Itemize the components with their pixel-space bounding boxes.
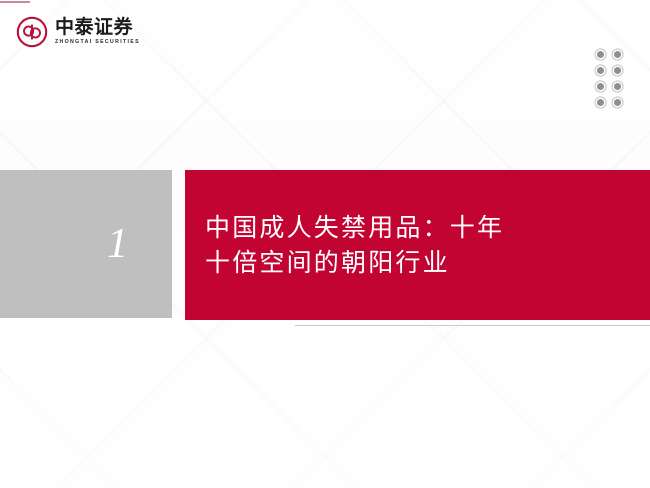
dot-grid-cell [609,78,626,94]
brand-name-cn: 中泰证券 [55,18,140,37]
brand-logo-text: 中泰证券 ZHONGTAI SECURITIES [55,18,140,45]
section-title-line-1: 中国成人失禁用品：十年 [185,210,650,246]
dot-grid-cell [592,94,609,110]
dot-icon [597,51,604,58]
dot-icon [614,67,621,74]
dot-icon [614,83,621,90]
dot-grid-cell [592,46,609,62]
brand-name-en: ZHONGTAI SECURITIES [55,40,140,45]
decorative-dot-grid [592,46,626,110]
dot-icon [597,67,604,74]
dot-grid-cell [609,46,626,62]
corner-accent-mark [0,1,30,3]
dot-icon [614,99,621,106]
dot-icon [614,51,621,58]
presentation-slide: 中泰证券 ZHONGTAI SECURITIES 1 中国成人失禁用品：十年 十… [0,0,650,488]
dot-grid-cell [609,62,626,78]
section-title-banner: 中国成人失禁用品：十年 十倍空间的朝阳行业 [185,170,650,320]
dot-grid-cell [609,94,626,110]
section-number: 1 [107,223,128,265]
dot-icon [597,99,604,106]
dot-grid-cell [592,62,609,78]
zhongtai-circular-emblem-icon [16,16,48,48]
brand-logo: 中泰证券 ZHONGTAI SECURITIES [16,16,140,48]
dot-icon [597,83,604,90]
dot-grid-cell [592,78,609,94]
section-title-line-2: 十倍空间的朝阳行业 [185,245,650,281]
title-underline-rule [295,325,650,326]
section-number-panel: 1 [0,170,172,318]
